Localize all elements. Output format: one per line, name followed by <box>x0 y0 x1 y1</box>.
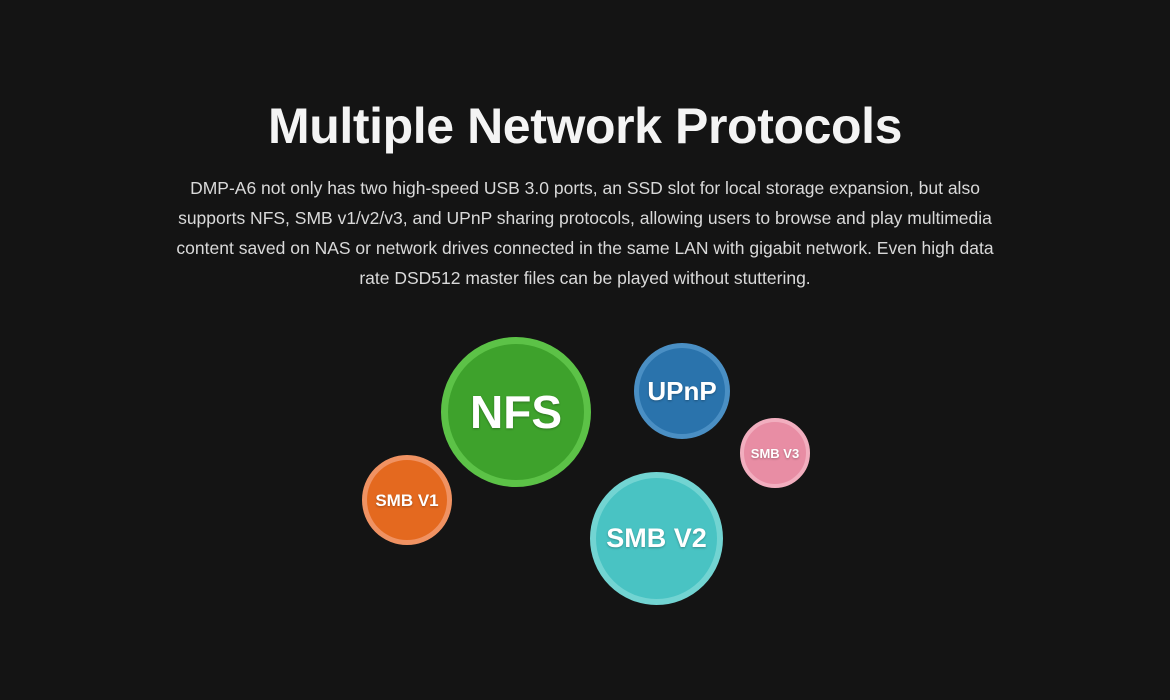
protocol-bubble-smb-v3: SMB V3 <box>740 418 810 488</box>
protocol-bubble-upnp: UPnP <box>634 343 730 439</box>
protocol-bubble-label: SMB V1 <box>375 492 438 509</box>
protocol-bubble-cluster: NFS UPnP SMB V2 SMB V1 SMB V3 <box>0 0 1170 700</box>
protocol-bubble-smb-v2: SMB V2 <box>590 472 723 605</box>
protocol-bubble-label: SMB V2 <box>606 525 707 552</box>
protocol-bubble-nfs: NFS <box>441 337 591 487</box>
protocol-bubble-label: UPnP <box>647 378 716 404</box>
marketing-slide: Multiple Network Protocols DMP-A6 not on… <box>0 0 1170 700</box>
protocol-bubble-label: NFS <box>470 389 562 435</box>
protocol-bubble-smb-v1: SMB V1 <box>362 455 452 545</box>
protocol-bubble-label: SMB V3 <box>751 447 799 460</box>
